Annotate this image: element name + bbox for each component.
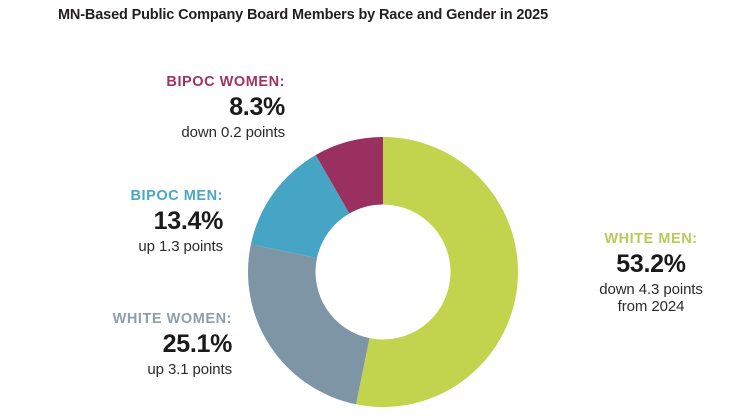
callout-bipoc-men-heading: BIPOC MEN: [10,188,223,205]
callout-white-women: WHITE WOMEN: 25.1% up 3.1 points [10,311,232,378]
callout-bipoc-women-delta: down 0.2 points [20,124,285,142]
callout-white-women-value: 25.1% [10,330,232,360]
donut-chart: White Men 53.2%White Women 25.1%BIPOC Me… [248,137,518,407]
callout-white-women-delta: up 3.1 points [10,361,232,379]
callout-white-men-delta-2: from 2024 [560,298,742,316]
donut-slice-group: White Men 53.2%White Women 25.1%BIPOC Me… [248,137,518,407]
callout-white-men-heading: WHITE MEN: [560,231,742,248]
callout-white-men-delta: down 4.3 points [560,281,742,299]
callout-white-women-heading: WHITE WOMEN: [10,311,232,328]
callout-bipoc-men-value: 13.4% [10,207,223,237]
callout-bipoc-men: BIPOC MEN: 13.4% up 1.3 points [10,188,223,255]
donut-slice-white-women[interactable]: White Women 25.1% [248,244,370,404]
callout-bipoc-women-heading: BIPOC WOMEN: [20,74,285,91]
callout-bipoc-women: BIPOC WOMEN: 8.3% down 0.2 points [20,74,285,141]
callout-white-men: WHITE MEN: 53.2% down 4.3 points from 20… [560,231,742,316]
page-title: MN-Based Public Company Board Members by… [58,7,718,24]
donut-chart-svg: White Men 53.2%White Women 25.1%BIPOC Me… [248,137,518,407]
callout-bipoc-women-value: 8.3% [20,93,285,123]
callout-bipoc-men-delta: up 1.3 points [10,238,223,256]
callout-white-men-value: 53.2% [560,250,742,280]
